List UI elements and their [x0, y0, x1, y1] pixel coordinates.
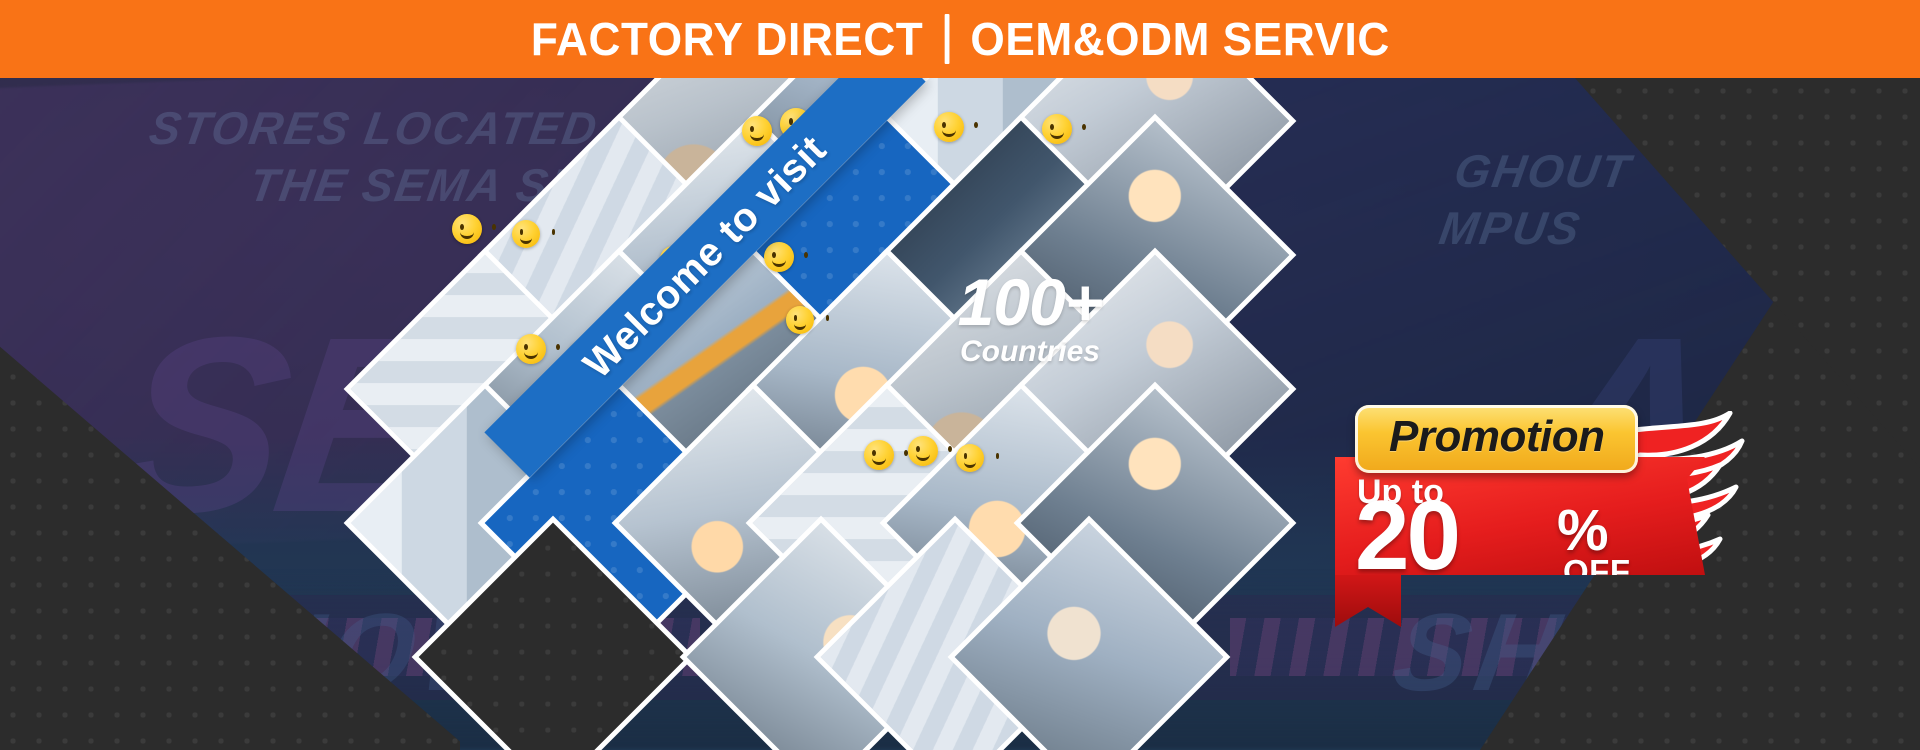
- smiley-face-icon-7: [512, 220, 540, 248]
- smiley-face-icon-10: [786, 306, 814, 334]
- promo-banner: SE A SHOW SHOW STORES LOCATED THRO THE S…: [0, 0, 1920, 750]
- smiley-face-icon-13: [864, 440, 894, 470]
- promotion-badge[interactable]: Up to 20 % OFF Promotion: [1335, 405, 1795, 605]
- promotion-red-banner: Up to 20 % OFF: [1335, 457, 1705, 575]
- header-bar: FACTORY DIRECT OEM&ODM SERVIC: [0, 0, 1920, 78]
- smiley-face-icon-5: [1042, 114, 1072, 144]
- header-text-right: OEM&ODM SERVIC: [970, 12, 1389, 66]
- smiley-face-icon-11: [516, 334, 546, 364]
- smiley-face-icon-4: [934, 112, 964, 142]
- promotion-title: Promotion: [1389, 412, 1604, 461]
- smiley-face-icon-14: [908, 436, 938, 466]
- promotion-amount: 20: [1355, 491, 1458, 579]
- header-text-left: FACTORY DIRECT: [531, 12, 923, 66]
- smiley-face-icon-1: [742, 116, 772, 146]
- smiley-face-icon-15: [956, 444, 984, 472]
- smiley-face-icon-9: [764, 242, 794, 272]
- promotion-title-pill: Promotion: [1355, 405, 1638, 473]
- smiley-face-icon-6: [452, 214, 482, 244]
- header-divider-icon: [944, 14, 949, 64]
- header-headline: FACTORY DIRECT OEM&ODM SERVIC: [531, 12, 1390, 66]
